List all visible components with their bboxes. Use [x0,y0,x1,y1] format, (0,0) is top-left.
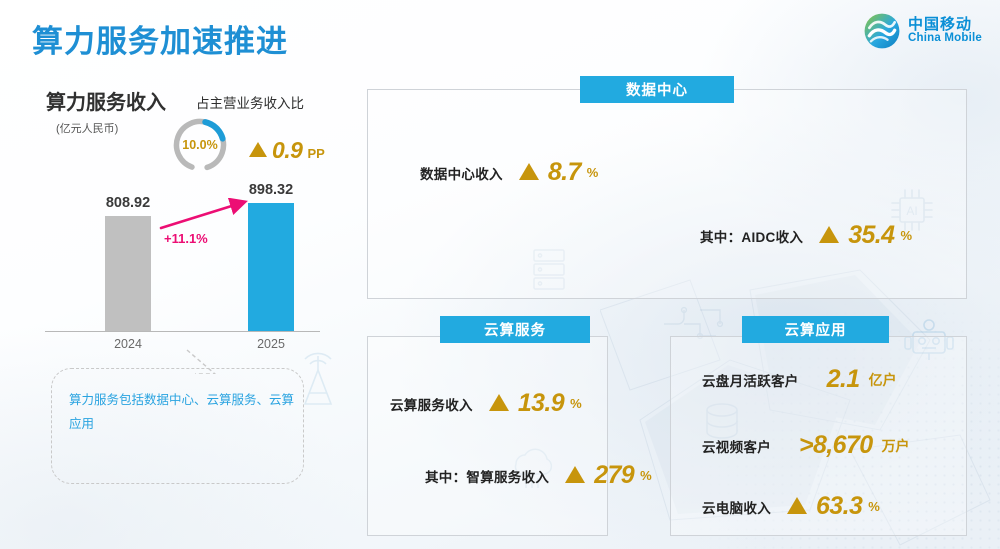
metric-capp-drive-mau: 云盘月活跃客户 2.1 亿户 [702,365,897,394]
metric-unit: % [640,468,652,483]
metric-ccs-intelligent-revenue: 其中：智算服务收入 279 % [425,461,652,490]
ratio-donut-value: 10.0% [171,116,229,174]
metric-label: 云盘月活跃客户 [702,370,799,390]
metric-unit: % [570,396,582,411]
metric-dc-aidc-revenue: 其中：AIDC收入 35.4 % [700,221,912,250]
metric-value: 2.1 [827,365,860,394]
callout-text: 算力服务包括数据中心、云算服务、云算应用 [69,388,297,437]
panel-data-center [367,89,967,299]
triangle-up-icon [819,226,839,243]
tab-cloud-compute-service[interactable]: 云算服务 [440,316,590,343]
metric-ccs-revenue: 云算服务收入 13.9 % [390,389,582,418]
ratio-label: 占主营业务收入比 [196,92,304,112]
metric-label: 其中：AIDC收入 [700,226,803,246]
logo-name-en: China Mobile [908,33,982,45]
bar-value-2024: 808.92 [106,195,150,211]
ratio-delta-value: 0.9 [272,137,302,164]
metric-unit: % [868,499,880,514]
unit-note: (亿元人民币) [56,120,118,136]
metric-label: 云算服务收入 [390,394,473,414]
metric-value: 8.7 [548,158,581,187]
metric-dc-revenue: 数据中心收入 8.7 % [420,158,598,187]
panel-cloud-compute-service [367,336,608,536]
metric-capp-pc-revenue: 云电脑收入 63.3 % [702,492,880,521]
metric-value: 279 [594,461,634,490]
triangle-up-icon [787,497,807,514]
logo-name-cn: 中国移动 [908,17,982,33]
metric-unit: 亿户 [869,370,897,390]
triangle-up-icon [519,163,539,180]
triangle-up-icon [489,394,509,411]
china-mobile-logo: 中国移动 China Mobile [863,12,982,50]
metric-unit: 万户 [882,436,910,456]
metric-value: >8,670 [799,431,873,460]
revenue-bar-chart: 808.92 2024 898.32 2025 +11.1% [40,185,330,360]
tab-data-center[interactable]: 数据中心 [580,76,734,103]
metric-value: 13.9 [518,389,564,418]
section-title-compute-revenue: 算力服务收入 [46,86,166,115]
metric-value: 63.3 [816,492,862,521]
page-title: 算力服务加速推进 [32,16,288,61]
tab-cloud-application[interactable]: 云算应用 [742,316,889,343]
metric-label: 云视频客户 [702,436,771,456]
bar-value-2025: 898.32 [249,182,293,198]
bar-category-2024: 2024 [114,337,142,351]
metric-capp-video-customers: 云视频客户 >8,670 万户 [702,431,910,460]
chart-axis-line [45,331,320,332]
metric-unit: % [587,165,599,180]
china-mobile-logo-icon [863,12,901,50]
ratio-delta-unit: PP [307,146,324,161]
metric-label: 数据中心收入 [420,163,503,183]
growth-percent-label: +11.1% [164,231,208,246]
metric-label: 其中：智算服务收入 [425,466,549,486]
metric-unit: % [900,228,912,243]
growth-arrow-icon [158,198,250,232]
slide-root: AI [0,0,1000,549]
metric-value: 35.4 [848,221,894,250]
metric-label: 云电脑收入 [702,497,771,517]
bar-2025: 898.32 2025 [248,203,294,331]
bar-2024: 808.92 2024 [105,216,151,331]
bar-category-2025: 2025 [257,337,285,351]
ratio-delta: 0.9 PP [249,137,325,164]
triangle-up-icon [249,142,267,157]
triangle-up-icon [565,466,585,483]
